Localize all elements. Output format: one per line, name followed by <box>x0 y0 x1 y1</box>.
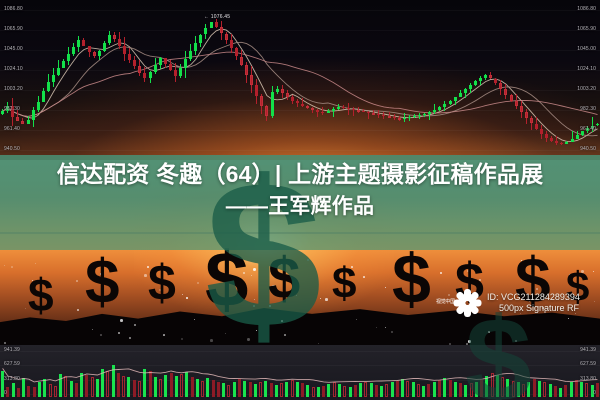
candle-body <box>225 34 228 41</box>
candle-body <box>408 117 411 118</box>
light-speck <box>182 294 183 295</box>
candle-body <box>128 54 131 61</box>
light-speck <box>391 331 393 333</box>
candle-body <box>72 47 75 54</box>
light-speck <box>134 324 136 326</box>
candle-body <box>42 91 45 102</box>
light-speck <box>186 297 188 299</box>
axis-tick-label: 982.30 <box>580 107 596 112</box>
watermark-id: ID: VCG211284289394 <box>487 292 580 303</box>
candle-body <box>398 118 401 120</box>
watermark-text: ID: VCG211284289394 500px Signature RF <box>487 292 580 314</box>
axis-tick-label: 627.59 <box>580 362 596 367</box>
candle-body <box>540 129 543 134</box>
candle-body <box>377 114 380 115</box>
light-speck <box>100 334 102 336</box>
candle-body <box>393 117 396 118</box>
axis-tick-label: 1024.10 <box>577 67 596 72</box>
candle-body <box>484 75 487 78</box>
dollar-sign-icon: $ <box>28 272 54 318</box>
candle-body <box>321 112 324 113</box>
light-speck <box>194 319 195 320</box>
axis-tick-label: 961.40 <box>4 127 20 132</box>
candle-body <box>296 101 299 104</box>
candle-body <box>62 61 65 68</box>
candle-body <box>235 48 238 57</box>
candle-body <box>260 96 263 107</box>
candle-body <box>199 35 202 44</box>
candle-body <box>316 110 319 112</box>
candle-body <box>504 89 507 95</box>
axis-tick-label: 1003.20 <box>4 87 23 92</box>
candle-body <box>250 75 253 86</box>
candle-body <box>550 138 553 141</box>
axis-tick-label: 1065.90 <box>577 27 596 32</box>
light-speck <box>76 280 78 282</box>
candle-body <box>210 22 213 28</box>
light-speck <box>163 334 165 336</box>
candle-body <box>276 89 279 92</box>
candle-body <box>154 65 157 72</box>
candle-body <box>337 107 340 109</box>
light-speck <box>197 282 199 284</box>
candle-body <box>37 102 40 111</box>
axis-tick-label: 313.80 <box>4 377 20 382</box>
candle-body <box>32 110 35 120</box>
price-chart-panel: 1086.801065.901045.001024.101003.20982.3… <box>0 0 600 160</box>
candle-body <box>367 112 370 113</box>
candle-body <box>164 58 167 64</box>
candle-body <box>332 109 335 111</box>
candle-body <box>204 28 207 35</box>
light-speck <box>35 263 36 264</box>
light-speck <box>118 332 120 334</box>
candle-body <box>98 51 101 57</box>
candle-body <box>281 89 284 93</box>
candle-body <box>515 101 518 107</box>
axis-tick-label: 961.40 <box>580 127 596 132</box>
axis-tick-label: 940.50 <box>4 147 20 152</box>
candle-body <box>52 75 55 83</box>
axis-tick-label: 627.59 <box>4 362 20 367</box>
light-speck <box>325 298 328 301</box>
axis-tick-label: 941.39 <box>4 348 20 353</box>
title-block: 信达配资 冬趣（64）| 上游主题摄影征稿作品展 ——王军辉作品 <box>0 160 600 221</box>
page-subtitle: ——王军辉作品 <box>0 192 600 221</box>
candle-body <box>123 46 126 54</box>
candle-body <box>301 104 304 107</box>
flower-petal-logo-icon: 视觉中国 <box>452 288 482 318</box>
candle-body <box>388 116 391 118</box>
candle-body <box>220 27 223 34</box>
candle-body <box>489 75 492 79</box>
candle-body <box>560 143 563 144</box>
watermark-license: 500px Signature RF <box>487 303 580 314</box>
candle-body <box>510 95 513 101</box>
axis-tick-label: 0 <box>593 391 596 396</box>
candle-body <box>306 106 309 108</box>
axis-tick-label: 1024.10 <box>4 67 23 72</box>
candle-body <box>565 142 568 144</box>
candle-body <box>113 35 116 39</box>
candle-body <box>133 60 136 66</box>
candle-body <box>423 114 426 115</box>
dollar-sign-icon: $ <box>332 262 356 306</box>
candle-body <box>525 112 528 118</box>
candle-body <box>555 141 558 143</box>
candle-body <box>138 66 141 73</box>
candle-body <box>230 40 233 48</box>
candle-body <box>596 124 599 126</box>
candle-body <box>16 117 19 121</box>
candle-body <box>372 113 375 115</box>
light-speck <box>92 329 93 330</box>
page-title: 信达配资 冬趣（64）| 上游主题摄影征稿作品展 <box>0 160 600 189</box>
candle-body <box>413 116 416 117</box>
moving-average-line <box>3 29 598 142</box>
light-speck <box>25 308 26 309</box>
candle-body <box>189 51 192 60</box>
candle-body <box>149 72 152 78</box>
candle-body <box>108 35 111 43</box>
screenshot-root: $$$$$$$$$$ 1086.801065.901045.001024.101… <box>0 0 600 400</box>
candle-body <box>494 79 497 84</box>
light-speck <box>11 266 13 268</box>
axis-tick-label: 313.80 <box>580 377 596 382</box>
light-speck <box>448 294 450 296</box>
candle-body <box>103 43 106 51</box>
candle-body <box>174 70 177 76</box>
candle-body <box>88 46 91 52</box>
axis-tick-label: 1086.80 <box>4 7 23 12</box>
candle-body <box>352 109 355 110</box>
light-speck <box>144 274 147 277</box>
candle-body <box>215 22 218 27</box>
moving-average-line <box>3 52 598 116</box>
candle-body <box>535 124 538 130</box>
candle-body <box>57 68 60 75</box>
light-speck <box>4 265 5 266</box>
candle-body <box>403 118 406 119</box>
candle-body <box>464 89 467 93</box>
dollar-sign-icon: $ <box>148 258 176 308</box>
candle-body <box>357 110 360 112</box>
light-speck <box>4 342 6 344</box>
axis-tick-label: 0 <box>4 391 7 396</box>
light-speck <box>120 319 123 322</box>
candle-body <box>530 118 533 124</box>
stock-photo-watermark: 视觉中国 ID: VCG211284289394 500px Signature… <box>452 288 580 318</box>
light-speck <box>129 337 131 339</box>
candle-body <box>571 139 574 142</box>
candle-body <box>342 107 345 108</box>
candle-body <box>545 134 548 138</box>
candle-wick <box>353 107 354 117</box>
axis-tick-label: 1003.20 <box>577 87 596 92</box>
candle-body <box>67 54 70 62</box>
candle-body <box>159 58 162 65</box>
light-speck <box>363 276 365 278</box>
candle-body <box>449 101 452 105</box>
candle-body <box>82 40 85 46</box>
candle-body <box>382 115 385 116</box>
axis-tick-label: 941.39 <box>580 348 596 353</box>
candle-body <box>362 111 365 112</box>
axis-tick-label: 940.50 <box>580 147 596 152</box>
axis-tick-label: 1045.00 <box>4 47 23 52</box>
candle-body <box>27 120 30 124</box>
candle-body <box>77 40 80 47</box>
candle-wick <box>333 107 334 117</box>
watermark-brand-cn: 视觉中国 <box>436 298 455 305</box>
candle-body <box>443 104 446 107</box>
candle-body <box>327 111 330 113</box>
candle-body <box>438 107 441 110</box>
candle-body <box>169 64 172 70</box>
candle-body <box>454 97 457 101</box>
axis-tick-label: 1065.90 <box>4 27 23 32</box>
candle-body <box>347 108 350 109</box>
candle-body <box>47 82 50 91</box>
candle-body <box>265 106 268 116</box>
peak-price-annotation: ← 1076.45 <box>204 14 230 20</box>
dollar-sign-icon: $ <box>85 252 119 314</box>
candle-body <box>433 110 436 112</box>
candle-body <box>520 106 523 112</box>
candle-body <box>291 97 294 101</box>
candle-body <box>428 112 431 114</box>
candle-body <box>184 59 187 68</box>
candle-body <box>194 43 197 51</box>
axis-tick-label: 1045.00 <box>577 47 596 52</box>
candle-body <box>469 85 472 89</box>
light-speck <box>385 327 386 328</box>
candle-body <box>93 52 96 57</box>
candle-body <box>271 92 274 116</box>
candle-body <box>459 93 462 97</box>
candle-body <box>255 85 258 96</box>
axis-tick-label: 1086.80 <box>577 7 596 12</box>
moving-average-lines <box>0 0 600 160</box>
dollar-sign-icon: $ <box>392 244 431 314</box>
candle-body <box>286 93 289 97</box>
axis-tick-label: 982.30 <box>4 107 20 112</box>
candle-body <box>474 81 477 85</box>
candle-body <box>479 78 482 82</box>
candle-body <box>240 57 243 66</box>
candle-body <box>418 115 421 116</box>
candle-body <box>21 121 24 124</box>
candle-body <box>179 68 182 76</box>
candle-body <box>143 73 146 78</box>
candle-body <box>311 108 314 110</box>
candle-body <box>118 39 121 46</box>
candle-body <box>499 83 502 89</box>
light-speck <box>77 309 79 311</box>
candle-body <box>245 65 248 75</box>
candle-body <box>576 135 579 139</box>
